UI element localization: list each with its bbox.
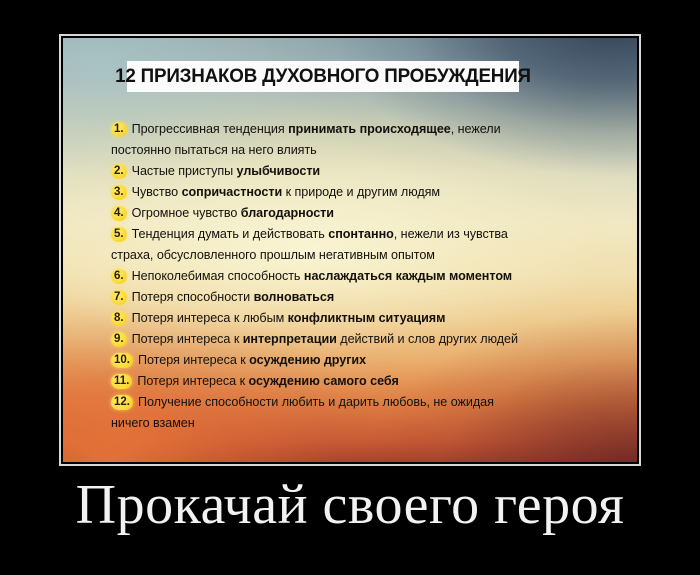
plain-text: Потеря интереса к <box>132 332 243 346</box>
list-item: 1.Прогрессивная тенденция принимать прои… <box>111 120 625 139</box>
list-item-number-badge: 4. <box>111 206 127 221</box>
plain-text: Потеря способности <box>132 290 254 304</box>
poster-content: 12 ПРИЗНАКОВ ДУХОВНОГО ПРОБУЖДЕНИЯ 1.Про… <box>63 38 637 462</box>
list-item-text: Частые приступы улыбчивости <box>132 162 625 181</box>
list-item-continuation: страха, обсусловленного прошлым негативн… <box>111 246 625 265</box>
list-item-text: Потеря интереса к осуждению других <box>138 351 625 370</box>
list-item: 10.Потеря интереса к осуждению других <box>111 351 625 370</box>
demotivator-caption: Прокачай своего героя <box>0 470 700 540</box>
list-item-continuation: ничего взамен <box>111 414 625 433</box>
emphasis-text: волноваться <box>254 290 335 304</box>
list-item: 11.Потеря интереса к осуждению самого се… <box>111 372 625 391</box>
list-item: 8.Потеря интереса к любым конфликтным си… <box>111 309 625 328</box>
list-item-text: Тенденция думать и действовать спонтанно… <box>132 225 625 244</box>
list-item-text: Прогрессивная тенденция принимать происх… <box>132 120 625 139</box>
plain-text: Прогрессивная тенденция <box>132 122 289 136</box>
plain-text: Частые приступы <box>132 164 237 178</box>
plain-text: Потеря интереса к любым <box>132 311 288 325</box>
plain-text: Потеря интереса к <box>138 353 249 367</box>
emphasis-text: благодарности <box>241 206 334 220</box>
poster-frame: 12 ПРИЗНАКОВ ДУХОВНОГО ПРОБУЖДЕНИЯ 1.Про… <box>59 34 641 466</box>
poster-title: 12 ПРИЗНАКОВ ДУХОВНОГО ПРОБУЖДЕНИЯ <box>115 66 531 88</box>
list-item-number-badge: 2. <box>111 164 127 179</box>
emphasis-text: осуждению других <box>249 353 366 367</box>
list-item: 5.Тенденция думать и действовать спонтан… <box>111 225 625 244</box>
list-item: 9.Потеря интереса к интерпретации действ… <box>111 330 625 349</box>
emphasis-text: интерпретации <box>243 332 337 346</box>
demotivator-image: 12 ПРИЗНАКОВ ДУХОВНОГО ПРОБУЖДЕНИЯ 1.Про… <box>0 0 700 575</box>
emphasis-text: спонтанно <box>328 227 394 241</box>
list-item-number-badge: 1. <box>111 122 127 137</box>
list-item-text: Потеря интереса к осуждению самого себя <box>137 372 625 391</box>
emphasis-text: сопричастности <box>182 185 283 199</box>
list-item-text: Непоколебимая способность наслаждаться к… <box>132 267 625 286</box>
emphasis-text: принимать происходящее <box>288 122 451 136</box>
emphasis-text: наслаждаться каждым моментом <box>304 269 512 283</box>
list-item-number-badge: 10. <box>111 353 133 368</box>
list-item: 6.Непоколебимая способность наслаждаться… <box>111 267 625 286</box>
emphasis-text: улыбчивости <box>237 164 321 178</box>
list-item: 3.Чувство сопричастности к природе и дру… <box>111 183 625 202</box>
list-item-number-badge: 3. <box>111 185 127 200</box>
list-item-text: Чувство сопричастности к природе и други… <box>132 183 625 202</box>
list-item-text: Получение способности любить и дарить лю… <box>138 393 625 412</box>
list-item-number-badge: 11. <box>111 374 132 389</box>
list-item: 4.Огромное чувство благодарности <box>111 204 625 223</box>
emphasis-text: осуждению самого себя <box>249 374 399 388</box>
plain-text: Чувство <box>132 185 182 199</box>
signs-list: 1.Прогрессивная тенденция принимать прои… <box>111 120 625 435</box>
list-item-number-badge: 5. <box>111 227 127 242</box>
list-item-text: Потеря интереса к интерпретации действий… <box>132 330 625 349</box>
emphasis-text: конфликтным ситуациям <box>288 311 446 325</box>
list-item-text: Огромное чувство благодарности <box>132 204 625 223</box>
plain-text: к природе и другим людям <box>282 185 440 199</box>
plain-text: Непоколебимая способность <box>132 269 304 283</box>
plain-text: , нежели <box>451 122 501 136</box>
title-banner: 12 ПРИЗНАКОВ ДУХОВНОГО ПРОБУЖДЕНИЯ <box>127 61 519 92</box>
list-item-number-badge: 8. <box>111 311 127 326</box>
plain-text: Потеря интереса к <box>137 374 248 388</box>
list-item-continuation: постоянно пытаться на него влиять <box>111 141 625 160</box>
list-item: 7.Потеря способности волноваться <box>111 288 625 307</box>
list-item: 12.Получение способности любить и дарить… <box>111 393 625 412</box>
list-item-number-badge: 9. <box>111 332 127 347</box>
list-item: 2.Частые приступы улыбчивости <box>111 162 625 181</box>
list-item-number-badge: 12. <box>111 395 133 410</box>
list-item-text: Потеря способности волноваться <box>132 288 625 307</box>
list-item-text: Потеря интереса к любым конфликтным ситу… <box>132 309 625 328</box>
plain-text: , нежели из чувства <box>394 227 508 241</box>
list-item-number-badge: 6. <box>111 269 127 284</box>
list-item-number-badge: 7. <box>111 290 127 305</box>
plain-text: Тенденция думать и действовать <box>132 227 329 241</box>
plain-text: действий и слов других людей <box>337 332 518 346</box>
plain-text: Огромное чувство <box>132 206 241 220</box>
plain-text: Получение способности любить и дарить лю… <box>138 395 494 409</box>
poster-image: 12 ПРИЗНАКОВ ДУХОВНОГО ПРОБУЖДЕНИЯ 1.Про… <box>63 38 637 462</box>
